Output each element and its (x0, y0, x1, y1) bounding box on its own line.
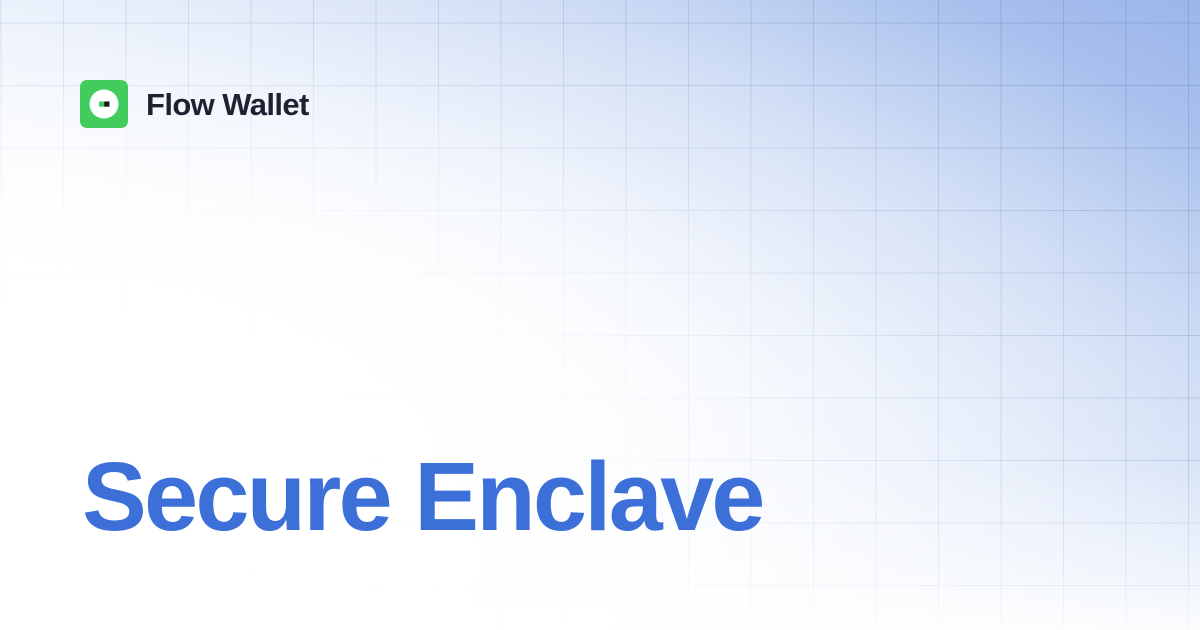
brand-name: Flow Wallet (146, 89, 309, 120)
brand-lockup: Flow Wallet (80, 80, 309, 128)
page-title: Secure Enclave (82, 448, 763, 547)
og-card: Flow Wallet Secure Enclave (0, 0, 1200, 630)
flow-wallet-logo-icon (80, 80, 128, 128)
